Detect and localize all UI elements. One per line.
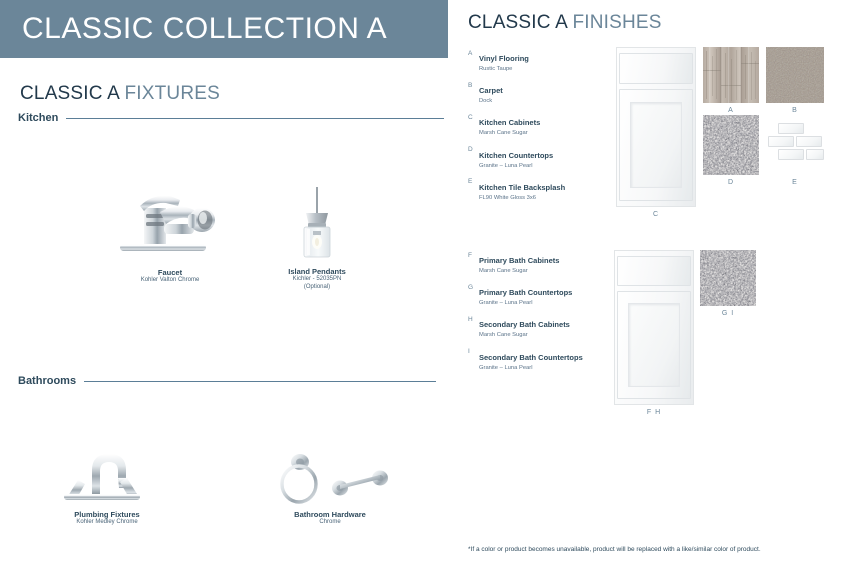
swatch-label-gi: G I bbox=[700, 310, 756, 317]
towel-ring-shape bbox=[282, 454, 316, 502]
fixture-faucet-sub: Kohler Valton Chrome bbox=[105, 277, 235, 285]
swatch-kitchen-cabinet: C bbox=[616, 47, 696, 218]
granite-luna-pearl-image bbox=[703, 115, 759, 175]
fixture-faucet-name: Faucet bbox=[105, 268, 235, 277]
legend-sub: Granite – Luna Pearl bbox=[479, 163, 608, 170]
vinyl-flooring-image bbox=[703, 47, 759, 103]
legend-title: Kitchen Cabinets bbox=[479, 118, 540, 127]
bathrooms-divider-rule bbox=[84, 381, 436, 382]
legend-sub: FL90 White Gloss 3x6 bbox=[479, 195, 608, 202]
legend-sub: Rustic Taupe bbox=[479, 66, 608, 73]
fixture-hardware-sub: Chrome bbox=[265, 519, 395, 527]
finishes-heading-light: FINISHES bbox=[572, 12, 661, 33]
kitchen-faucet-icon bbox=[110, 178, 230, 266]
kitchen-divider-rule bbox=[66, 118, 444, 119]
legend-letter: A bbox=[468, 48, 479, 57]
towel-ring-and-bar-icon bbox=[270, 450, 390, 508]
swatch-label-a: A bbox=[703, 107, 759, 114]
fixtures-section-heading: CLASSIC A FIXTURES bbox=[20, 83, 220, 105]
finishes-heading-strong: CLASSIC A bbox=[468, 12, 572, 33]
fixture-plumbing: Plumbing Fixtures Kohler Medley Chrome bbox=[42, 440, 172, 527]
cabinet-door-front bbox=[617, 291, 690, 400]
legend-sub: Granite – Luna Pearl bbox=[479, 300, 608, 307]
legend-title: Primary Bath Countertops bbox=[479, 288, 572, 297]
footer-disclaimer: *If a color or product becomes unavailab… bbox=[468, 546, 761, 553]
tile-unit bbox=[806, 149, 824, 160]
legend-item: H Secondary Bath Cabinets Marsh Cane Sug… bbox=[468, 314, 608, 339]
swatch-label-e: E bbox=[766, 179, 824, 186]
legend-letter: C bbox=[468, 112, 479, 121]
legend-sub: Dock bbox=[479, 98, 608, 105]
fixture-pendant-optional: (Optional) bbox=[252, 284, 382, 292]
cabinet-door-image bbox=[616, 47, 696, 207]
kitchen-finishes-legend: A Vinyl Flooring Rustic Taupe B Carpet D… bbox=[468, 48, 608, 209]
fixture-pendant-sub: Kichler - 52035PN bbox=[252, 276, 382, 284]
legend-letter: D bbox=[468, 145, 479, 154]
swatch-label-fh: F H bbox=[614, 409, 694, 416]
swatch-label-c: C bbox=[616, 211, 696, 218]
legend-item: F Primary Bath Cabinets Marsh Cane Sugar bbox=[468, 250, 608, 275]
swatch-vinyl-flooring: A bbox=[703, 47, 759, 114]
carpet-image bbox=[766, 47, 824, 103]
fixture-island-pendants: Island Pendants Kichler - 52035PN (Optio… bbox=[252, 185, 382, 291]
legend-item: D Kitchen Countertops Granite – Luna Pea… bbox=[468, 145, 608, 170]
legend-letter: I bbox=[468, 347, 479, 356]
legend-letter: G bbox=[468, 282, 479, 291]
swatch-tile-backsplash: E bbox=[766, 115, 824, 186]
legend-item: I Secondary Bath Countertops Granite – L… bbox=[468, 347, 608, 372]
legend-letter: H bbox=[468, 314, 479, 323]
swatch-label-d: D bbox=[703, 179, 759, 186]
cabinet-door-front bbox=[619, 89, 692, 201]
tile-unit bbox=[768, 136, 794, 147]
pendant-light-icon bbox=[282, 185, 352, 265]
kitchen-divider-label: Kitchen bbox=[18, 112, 58, 124]
subway-tile-image bbox=[766, 115, 824, 175]
legend-sub: Marsh Cane Sugar bbox=[479, 130, 608, 137]
cabinet-drawer-front bbox=[617, 256, 690, 287]
fixture-plumbing-name: Plumbing Fixtures bbox=[42, 510, 172, 519]
cabinet-drawer-front bbox=[619, 53, 692, 85]
cabinet-recessed-panel bbox=[630, 102, 681, 188]
legend-item: E Kitchen Tile Backsplash FL90 White Glo… bbox=[468, 177, 608, 202]
fixture-pendant-name: Island Pendants bbox=[252, 267, 382, 276]
legend-letter: B bbox=[468, 80, 479, 89]
header-banner: CLASSIC COLLECTION A bbox=[0, 0, 448, 58]
legend-sub: Marsh Cane Sugar bbox=[479, 332, 608, 339]
fixture-plumbing-sub: Kohler Medley Chrome bbox=[42, 519, 172, 527]
tile-unit bbox=[778, 123, 804, 134]
legend-item: A Vinyl Flooring Rustic Taupe bbox=[468, 48, 608, 73]
swatch-bath-cabinet: F H bbox=[614, 250, 694, 416]
kitchen-divider: Kitchen bbox=[18, 112, 448, 124]
legend-title: Secondary Bath Cabinets bbox=[479, 320, 570, 329]
legend-item: C Kitchen Cabinets Marsh Cane Sugar bbox=[468, 112, 608, 137]
fixture-faucet: Faucet Kohler Valton Chrome bbox=[105, 178, 235, 285]
legend-sub: Granite – Luna Pearl bbox=[479, 365, 608, 372]
fixture-bathroom-hardware: Bathroom Hardware Chrome bbox=[265, 450, 395, 527]
swatch-bath-countertop: G I bbox=[700, 250, 756, 317]
bath-finishes-legend: F Primary Bath Cabinets Marsh Cane Sugar… bbox=[468, 250, 608, 379]
cabinet-recessed-panel bbox=[628, 303, 679, 386]
tile-unit bbox=[778, 149, 804, 160]
bath-cabinet-door-image bbox=[614, 250, 694, 405]
legend-title: Primary Bath Cabinets bbox=[479, 256, 559, 265]
swatch-kitchen-countertop: D bbox=[703, 115, 759, 186]
legend-title: Kitchen Tile Backsplash bbox=[479, 183, 565, 192]
towel-bar-shape bbox=[332, 471, 388, 496]
fixture-hardware-name: Bathroom Hardware bbox=[265, 510, 395, 519]
fixtures-heading-strong: CLASSIC A bbox=[20, 83, 124, 104]
bath-granite-luna-pearl-image bbox=[700, 250, 756, 306]
legend-title: Secondary Bath Countertops bbox=[479, 353, 583, 362]
swatch-carpet: B bbox=[766, 47, 824, 114]
bathrooms-divider: Bathrooms bbox=[18, 375, 448, 387]
finishes-section-heading: CLASSIC A FINISHES bbox=[468, 12, 662, 34]
fixtures-heading-light: FIXTURES bbox=[124, 83, 220, 104]
legend-title: Vinyl Flooring bbox=[479, 54, 529, 63]
legend-letter: E bbox=[468, 177, 479, 186]
page-title: CLASSIC COLLECTION A bbox=[22, 12, 387, 46]
legend-letter: F bbox=[468, 250, 479, 259]
legend-sub: Marsh Cane Sugar bbox=[479, 268, 608, 275]
legend-item: G Primary Bath Countertops Granite – Lun… bbox=[468, 282, 608, 307]
swatch-label-b: B bbox=[766, 107, 824, 114]
legend-title: Carpet bbox=[479, 86, 503, 95]
bath-faucet-icon bbox=[52, 440, 162, 508]
tile-unit bbox=[796, 136, 822, 147]
legend-title: Kitchen Countertops bbox=[479, 151, 553, 160]
legend-item: B Carpet Dock bbox=[468, 80, 608, 105]
bathrooms-divider-label: Bathrooms bbox=[18, 375, 76, 387]
